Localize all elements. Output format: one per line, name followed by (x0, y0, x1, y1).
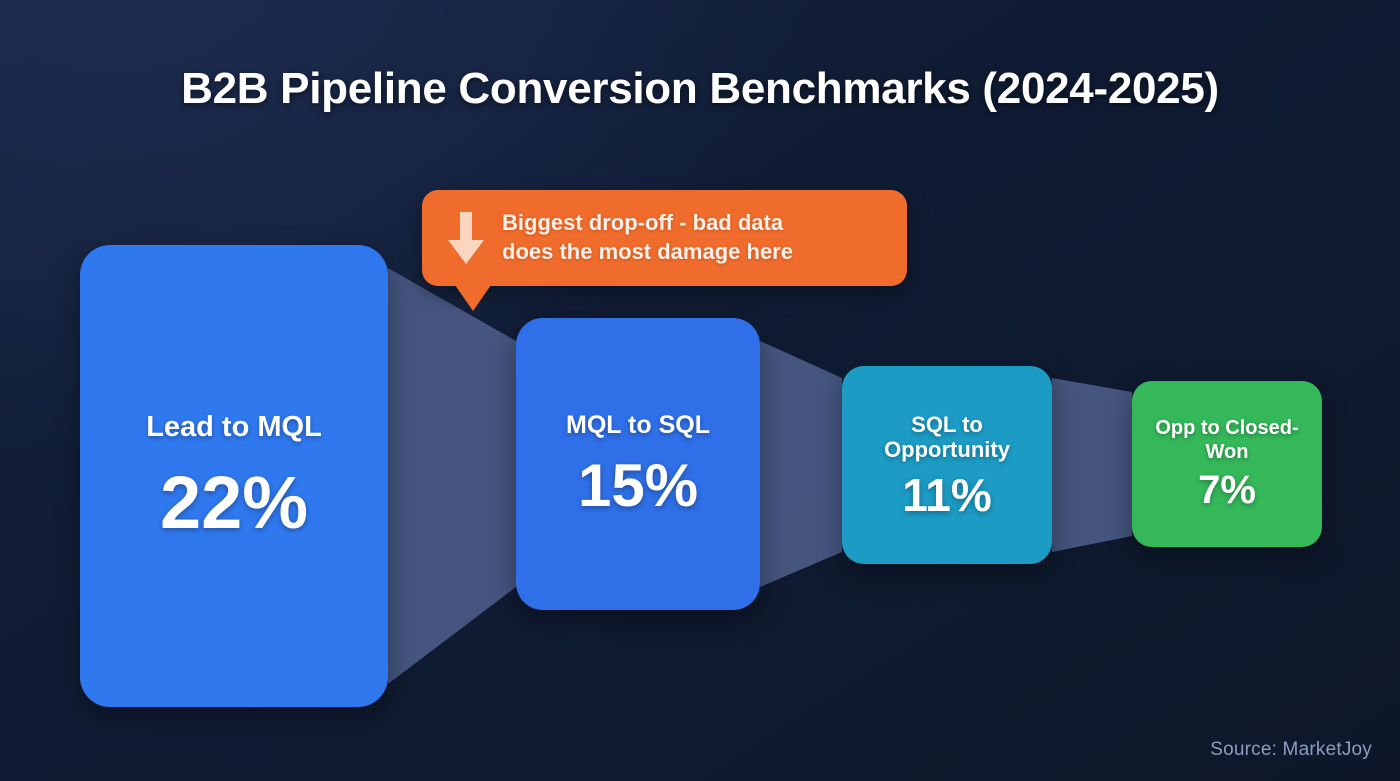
funnel-infographic: B2B Pipeline Conversion Benchmarks (2024… (0, 0, 1400, 781)
stage-label: MQL to SQL (566, 411, 710, 440)
funnel-stage-mql-to-sql[interactable]: MQL to SQL 15% (516, 318, 760, 610)
callout-line-1: Biggest drop-off - bad data (502, 209, 793, 238)
funnel-stage-sql-to-opportunity[interactable]: SQL to Opportunity 11% (842, 366, 1052, 564)
connector-3-4 (1052, 378, 1132, 552)
stage-value: 15% (578, 455, 698, 516)
stage-value: 11% (902, 472, 992, 519)
funnel-stage-opp-to-closed-won[interactable]: Opp to Closed-Won 7% (1132, 381, 1322, 547)
stage-label: Opp to Closed-Won (1142, 417, 1312, 463)
stage-value: 22% (160, 465, 308, 540)
stage-label: Lead to MQL (146, 411, 322, 445)
connector-2-3 (760, 341, 842, 587)
callout-pointer (455, 285, 491, 311)
annotation-callout: Biggest drop-off - bad data does the mos… (422, 190, 907, 286)
stage-label: SQL to Opportunity (852, 412, 1042, 463)
arrow-down-icon (446, 210, 486, 266)
source-attribution: Source: MarketJoy (1210, 739, 1372, 761)
stage-value: 7% (1198, 470, 1256, 511)
callout-text: Biggest drop-off - bad data does the mos… (502, 209, 793, 266)
callout-line-2: does the most damage here (502, 238, 793, 267)
connector-1-2 (388, 268, 516, 684)
funnel-chart: Lead to MQL 22% MQL to SQL 15% SQL to Op… (0, 0, 1400, 781)
funnel-stage-lead-to-mql[interactable]: Lead to MQL 22% (80, 245, 388, 707)
